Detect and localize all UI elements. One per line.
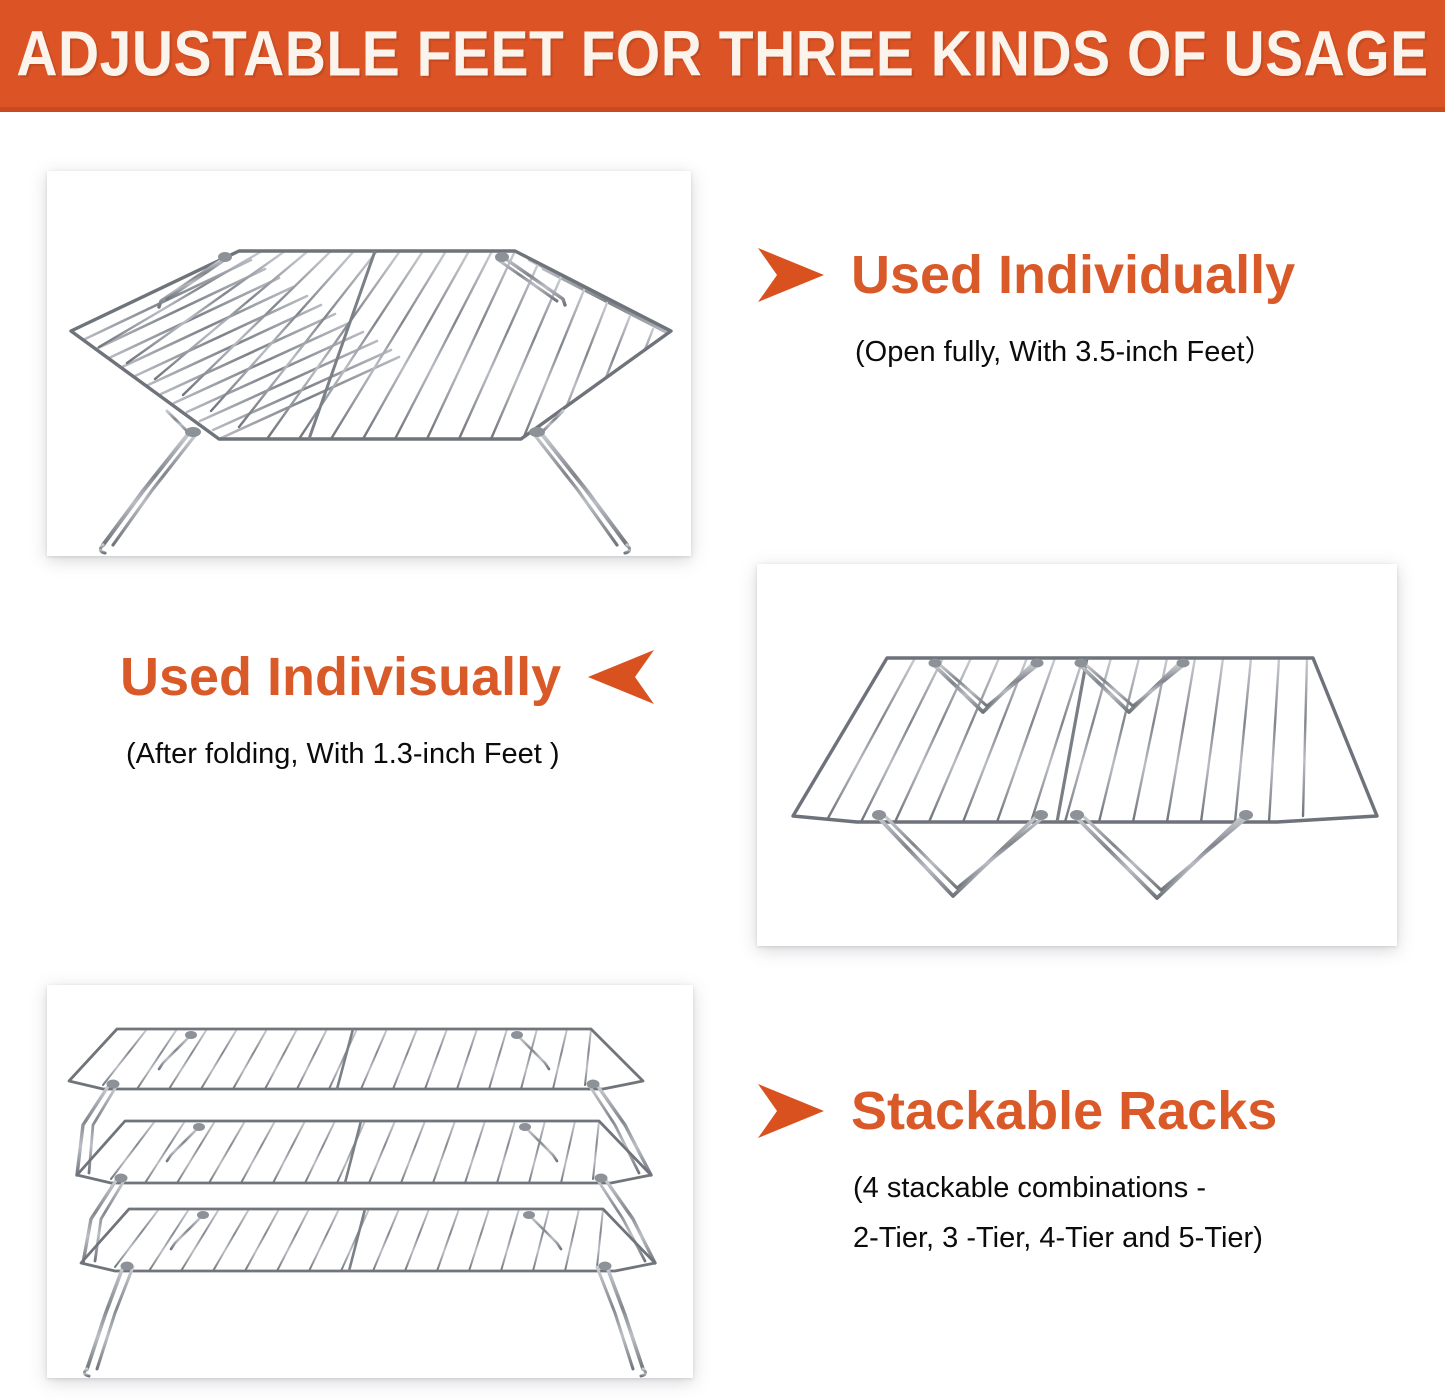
callout-title: Used Indivisually — [120, 650, 561, 704]
product-photo-rack-folded — [757, 564, 1397, 946]
callout-subtitle-line-1: (4 stackable combinations - — [853, 1166, 1365, 1210]
arrow-left-icon — [585, 648, 657, 706]
callout-heading-row: Used Indivisually — [120, 648, 710, 706]
callout-stackable-racks: Stackable Racks (4 stackable combination… — [755, 1082, 1365, 1260]
header-banner: ADJUSTABLE FEET FOR THREE KINDS OF USAGE — [0, 0, 1445, 112]
callout-heading-row: Stackable Racks — [755, 1082, 1365, 1140]
arrow-right-icon — [755, 1082, 827, 1140]
callout-subtitle: (After folding, With 1.3-inch Feet ) — [126, 732, 710, 776]
product-photo-racks-stacked — [47, 985, 693, 1378]
page-title: ADJUSTABLE FEET FOR THREE KINDS OF USAGE — [16, 17, 1428, 91]
callout-title: Used Individually — [851, 248, 1295, 302]
arrow-right-icon — [755, 246, 827, 304]
callout-used-individually: Used Individually (Open fully, With 3.5-… — [755, 246, 1355, 374]
callout-heading-row: Used Individually — [755, 246, 1355, 304]
callout-subtitle-line-2: 2-Tier, 3 -Tier, 4-Tier and 5-Tier) — [853, 1216, 1365, 1260]
product-photo-rack-open-fully — [47, 171, 691, 556]
callout-used-indivisually: Used Indivisually (After folding, With 1… — [120, 648, 710, 776]
callout-title: Stackable Racks — [851, 1084, 1277, 1138]
callout-subtitle: (Open fully, With 3.5-inch Feet） — [855, 330, 1355, 374]
